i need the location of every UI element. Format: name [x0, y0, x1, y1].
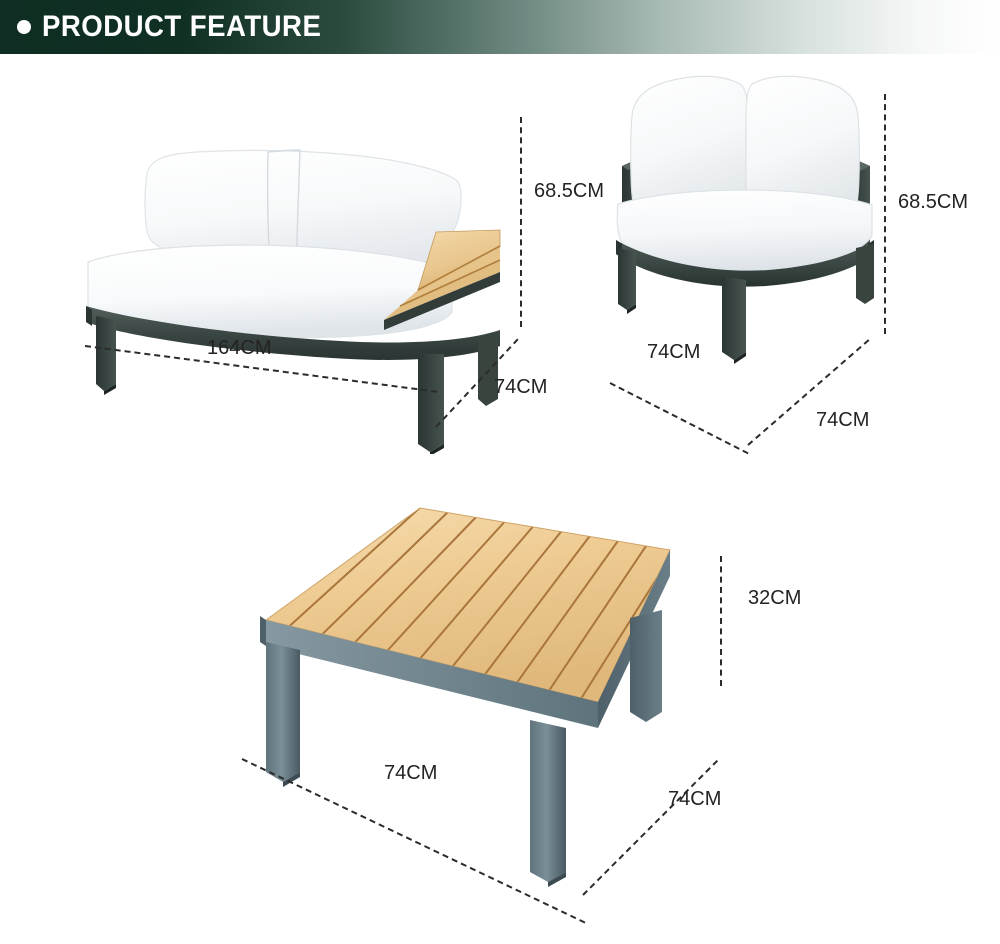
- coffee-table-illustration: [200, 490, 840, 920]
- dot-bullet-icon: [17, 20, 31, 34]
- product-sofa: 164CM 74CM 68.5CM: [0, 54, 560, 454]
- table-height-dimension-line: [720, 556, 722, 686]
- table-width-label: 74CM: [384, 762, 437, 785]
- sofa-height-dimension-line: [520, 117, 522, 327]
- chair-width-label: 74CM: [647, 341, 700, 364]
- product-feature-page: PRODUCT FEATURE: [0, 0, 1000, 944]
- page-header-banner: PRODUCT FEATURE: [0, 0, 1000, 54]
- table-depth-label: 74CM: [668, 788, 721, 811]
- sofa-width-label: 164CM: [207, 337, 271, 360]
- sofa-height-label: 68.5CM: [534, 180, 604, 203]
- sofa-illustration: [0, 54, 560, 454]
- chair-height-label: 68.5CM: [898, 191, 968, 214]
- corner-chair-illustration: [600, 54, 1000, 454]
- sofa-depth-label: 74CM: [494, 376, 547, 399]
- product-corner-chair: 68.5CM 74CM 74CM: [600, 54, 1000, 454]
- page-title: PRODUCT FEATURE: [42, 12, 321, 42]
- product-coffee-table: 32CM 74CM 74CM: [200, 490, 840, 920]
- chair-depth-label: 74CM: [816, 409, 869, 432]
- table-height-label: 32CM: [748, 587, 801, 610]
- chair-height-dimension-line: [884, 94, 886, 334]
